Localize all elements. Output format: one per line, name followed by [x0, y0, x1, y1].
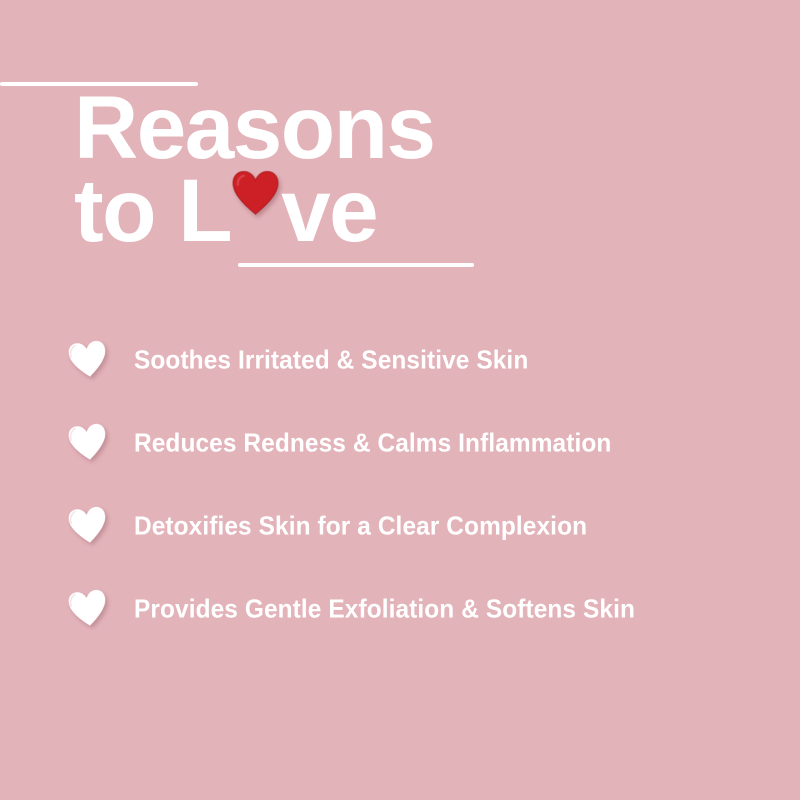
- heart-letter-substitute: [231, 169, 281, 252]
- benefit-label: Detoxifies Skin for a Clear Complexion: [134, 510, 587, 541]
- heart-icon-white: [68, 423, 108, 463]
- headline-line-1: Reasons: [74, 86, 734, 169]
- middle-decorative-rule: [238, 263, 474, 267]
- headline-line-2: to Lve: [74, 169, 734, 252]
- benefit-label: Soothes Irritated & Sensitive Skin: [134, 344, 528, 375]
- list-item: Reduces Redness & Calms Inflammation: [0, 401, 800, 484]
- heart-icon-white: [68, 340, 108, 380]
- benefit-label: Reduces Redness & Calms Inflammation: [134, 427, 611, 458]
- list-item: Detoxifies Skin for a Clear Complexion: [0, 484, 800, 567]
- benefit-label: Provides Gentle Exfoliation & Softens Sk…: [134, 593, 635, 624]
- page-title: Reasons to Lve: [74, 86, 734, 252]
- heart-icon-white: [68, 506, 108, 546]
- benefits-list: Soothes Irritated & Sensitive Skin Reduc…: [0, 318, 800, 650]
- list-item: Soothes Irritated & Sensitive Skin: [0, 318, 800, 401]
- headline-line-2-suffix: ve: [281, 160, 377, 260]
- headline-line-2-prefix: to L: [74, 160, 231, 260]
- poster-canvas: Reasons to Lve Soothes Irritated & Sensi…: [0, 0, 800, 800]
- heart-icon-white: [68, 589, 108, 629]
- heart-icon-red: [231, 169, 280, 218]
- list-item: Provides Gentle Exfoliation & Softens Sk…: [0, 567, 800, 650]
